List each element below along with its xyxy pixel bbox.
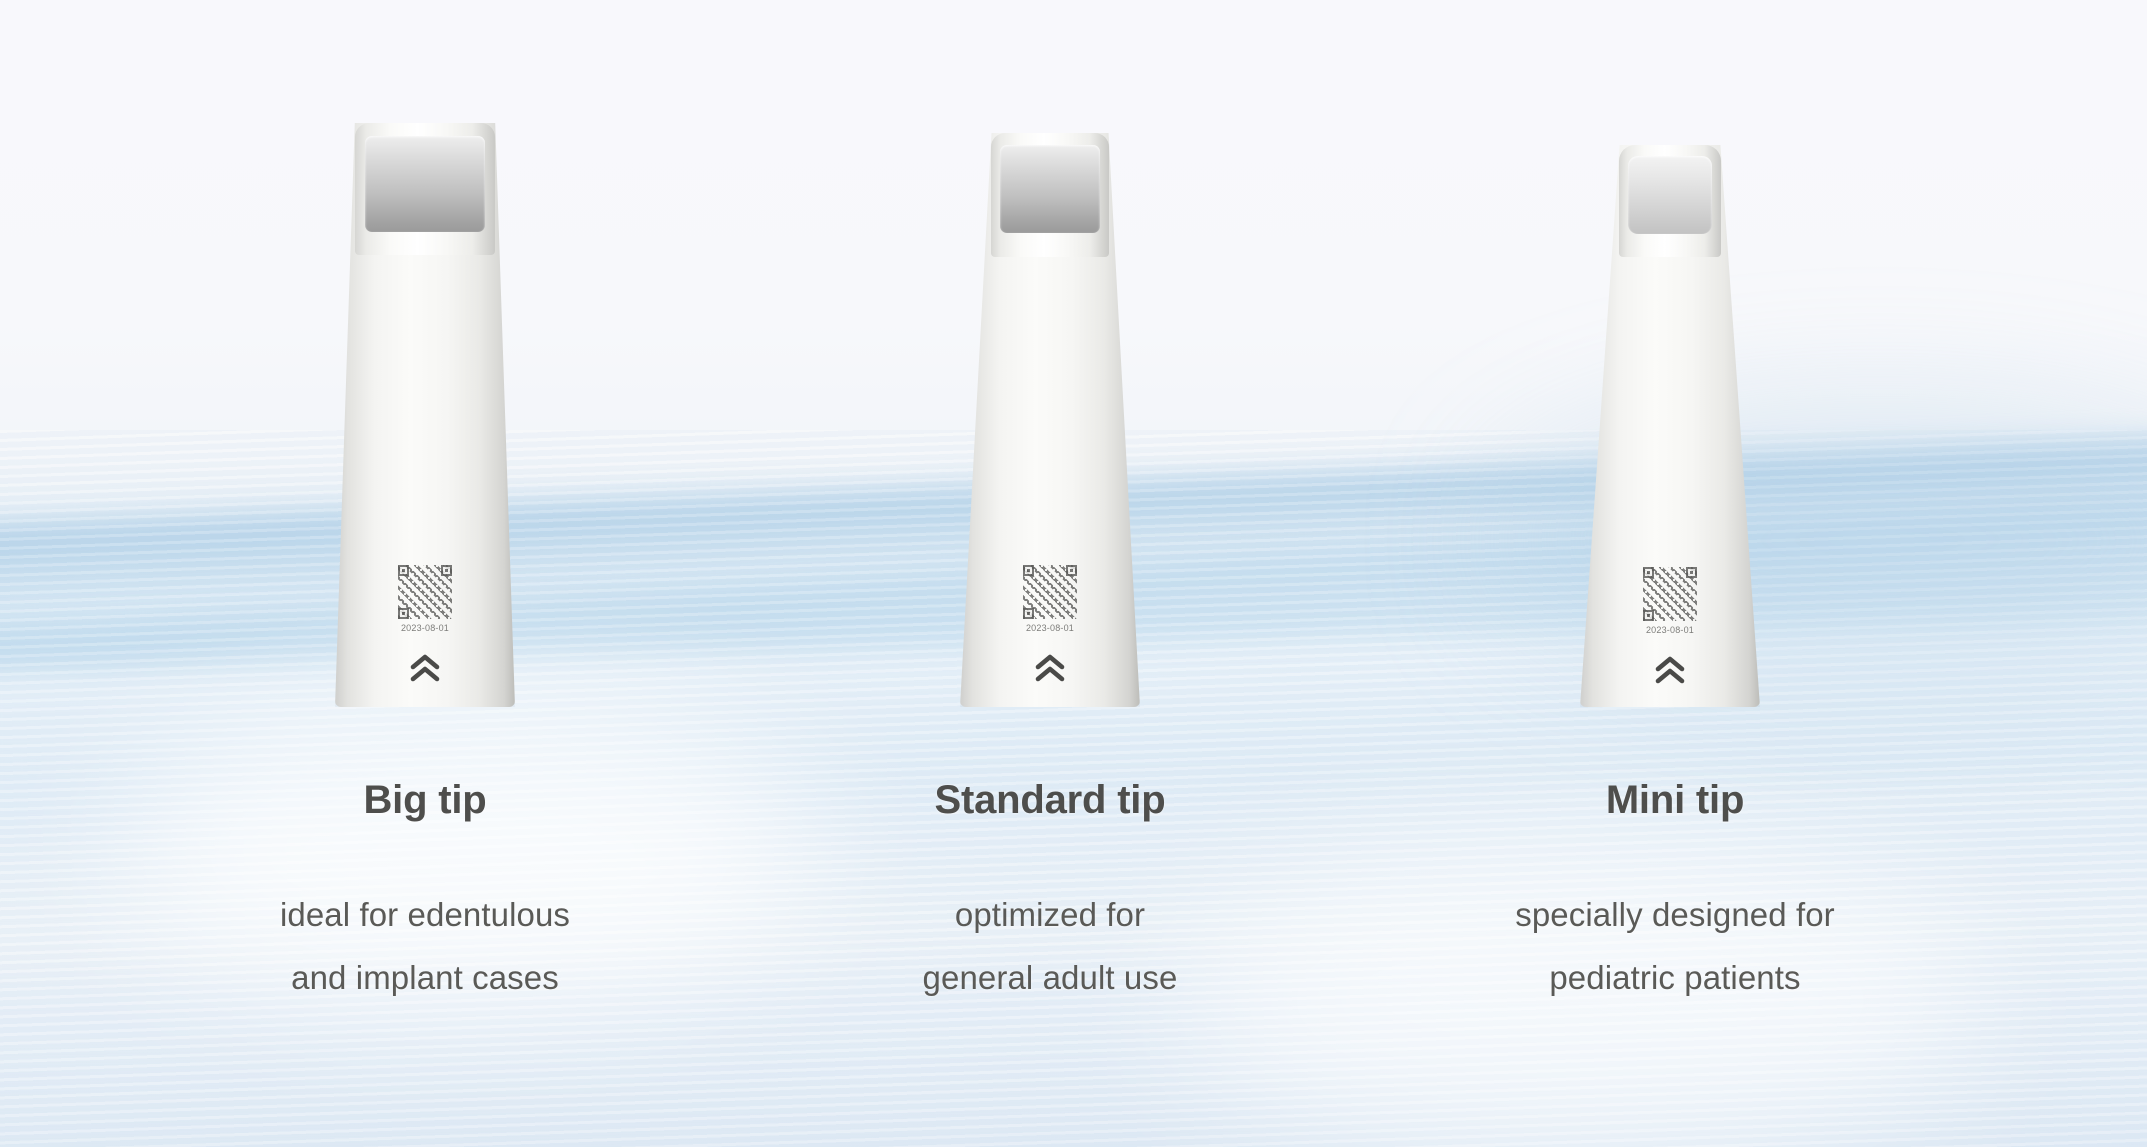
big-tip-image: 2023-08-01	[335, 123, 515, 707]
big-tip-desc-line-1: ideal for edentulous	[145, 884, 705, 947]
standard-tip-window	[1000, 145, 1100, 233]
product-tips-row: 2023-08-01 Big tip ideal for edentulous …	[0, 0, 2147, 1147]
mini-tip-caption: Mini tip specially designed for pediatri…	[1395, 780, 1955, 1009]
mini-tip-description: specially designed for pediatric patient…	[1395, 884, 1955, 1009]
mini-tip-qr-date: 2023-08-01	[1625, 625, 1715, 635]
big-tip-description: ideal for edentulous and implant cases	[145, 884, 705, 1009]
mini-tip-window	[1628, 156, 1712, 234]
big-tip-window	[365, 136, 485, 232]
qr-eye-tl	[1643, 567, 1654, 578]
qr-eye-bl	[398, 608, 409, 619]
qr-eye-tr	[1066, 565, 1077, 576]
double-chevron-up-icon	[1654, 656, 1686, 686]
double-chevron-up-icon	[409, 654, 441, 684]
standard-tip-title: Standard tip	[770, 780, 1330, 820]
mini-tip-desc-line-2: pediatric patients	[1395, 947, 1955, 1010]
standard-tip-desc-line-2: general adult use	[770, 947, 1330, 1010]
big-tip-qr-date: 2023-08-01	[380, 623, 470, 633]
big-tip-caption: Big tip ideal for edentulous and implant…	[145, 780, 705, 1009]
big-tip-qr-code	[398, 565, 452, 619]
qr-eye-tl	[398, 565, 409, 576]
standard-tip-caption: Standard tip optimized for general adult…	[770, 780, 1330, 1009]
mini-tip-qr-code	[1643, 567, 1697, 621]
mini-tip-title: Mini tip	[1395, 780, 1955, 820]
standard-tip-qr-code	[1023, 565, 1077, 619]
qr-eye-bl	[1643, 610, 1654, 621]
qr-eye-tl	[1023, 565, 1034, 576]
double-chevron-up-icon	[1034, 654, 1066, 684]
mini-tip-image: 2023-08-01	[1580, 145, 1760, 707]
big-tip-desc-line-2: and implant cases	[145, 947, 705, 1010]
standard-tip-image: 2023-08-01	[960, 133, 1140, 707]
mini-tip-desc-line-1: specially designed for	[1395, 884, 1955, 947]
qr-eye-tr	[441, 565, 452, 576]
big-tip-title: Big tip	[145, 780, 705, 820]
qr-eye-bl	[1023, 608, 1034, 619]
standard-tip-description: optimized for general adult use	[770, 884, 1330, 1009]
standard-tip-desc-line-1: optimized for	[770, 884, 1330, 947]
standard-tip-qr-date: 2023-08-01	[1005, 623, 1095, 633]
qr-eye-tr	[1686, 567, 1697, 578]
